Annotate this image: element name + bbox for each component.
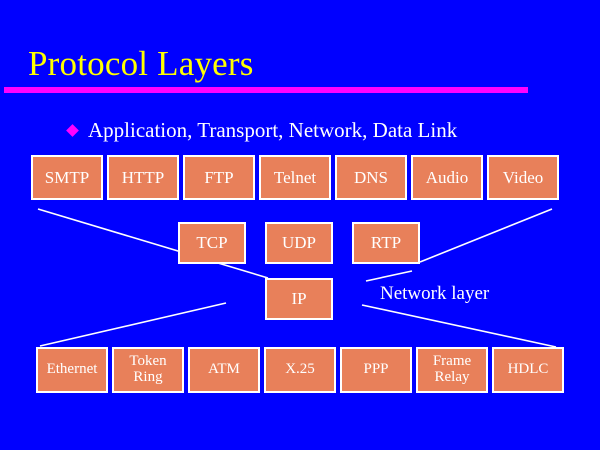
protocol-box-label: TokenRing [114, 354, 182, 386]
protocol-box-frame-relay[interactable]: FrameRelay [416, 347, 488, 393]
protocol-box-label: DNS [337, 169, 405, 187]
ip-to-hdlc-connector [362, 305, 556, 347]
slide-canvas: Protocol Layers Application, Transport, … [0, 0, 600, 450]
protocol-box-http[interactable]: HTTP [107, 155, 179, 200]
protocol-box-ftp[interactable]: FTP [183, 155, 255, 200]
protocol-box-dns[interactable]: DNS [335, 155, 407, 200]
protocol-box-label: ATM [190, 362, 258, 378]
protocol-box-label: FTP [185, 169, 253, 187]
protocol-box-label: IP [267, 290, 331, 308]
ip-to-ethernet-connector [40, 303, 226, 346]
protocol-box-label: PPP [342, 362, 410, 378]
protocol-box-label: RTP [354, 234, 418, 252]
bullet-line: Application, Transport, Network, Data Li… [68, 117, 457, 143]
network-layer-pointer [366, 271, 412, 281]
protocol-box-ethernet[interactable]: Ethernet [36, 347, 108, 393]
protocol-box-label: Ethernet [38, 362, 106, 378]
protocol-box-rtp[interactable]: RTP [352, 222, 420, 264]
protocol-box-label: X.25 [266, 362, 334, 378]
video-to-rtp-connector [420, 209, 552, 262]
protocol-box-label: Audio [413, 169, 481, 187]
protocol-box-label: TCP [180, 234, 244, 252]
protocol-box-ip[interactable]: IP [265, 278, 333, 320]
protocol-box-audio[interactable]: Audio [411, 155, 483, 200]
protocol-box-label: UDP [267, 234, 331, 252]
bullet-text: Application, Transport, Network, Data Li… [88, 118, 457, 142]
protocol-box-label: Telnet [261, 169, 329, 187]
protocol-box-ppp[interactable]: PPP [340, 347, 412, 393]
network-layer-label: Network layer [380, 283, 489, 305]
protocol-box-label: Video [489, 169, 557, 187]
title-underline-rule [4, 87, 528, 93]
protocol-box-tcp[interactable]: TCP [178, 222, 246, 264]
protocol-box-label: HTTP [109, 169, 177, 187]
protocol-box-label: SMTP [33, 169, 101, 187]
page-title: Protocol Layers [28, 44, 254, 84]
protocol-box-udp[interactable]: UDP [265, 222, 333, 264]
diamond-bullet-icon [66, 124, 79, 137]
protocol-box-label: FrameRelay [418, 354, 486, 386]
protocol-box-telnet[interactable]: Telnet [259, 155, 331, 200]
protocol-box-atm[interactable]: ATM [188, 347, 260, 393]
protocol-box-hdlc[interactable]: HDLC [492, 347, 564, 393]
protocol-box-label: HDLC [494, 362, 562, 378]
protocol-box-x-25[interactable]: X.25 [264, 347, 336, 393]
protocol-box-token-ring[interactable]: TokenRing [112, 347, 184, 393]
protocol-box-smtp[interactable]: SMTP [31, 155, 103, 200]
protocol-box-video[interactable]: Video [487, 155, 559, 200]
